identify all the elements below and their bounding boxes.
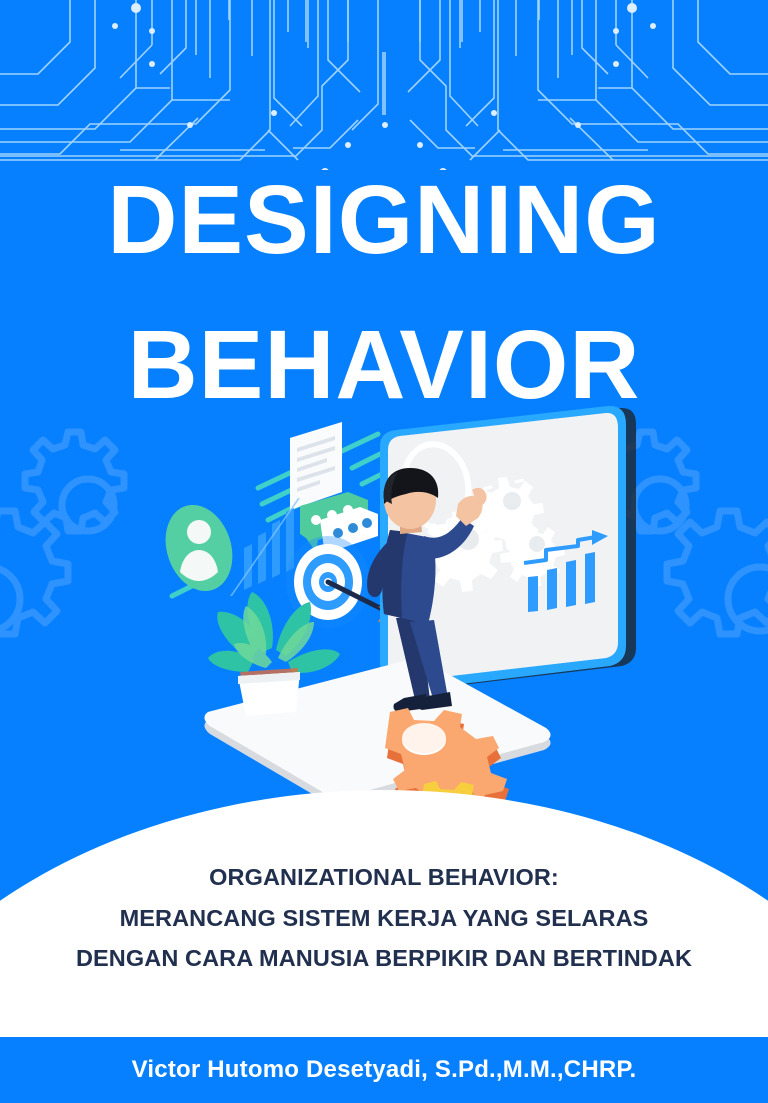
author-bar: Victor Hutomo Desetyadi, S.Pd.,M.M.,CHRP…	[0, 1037, 768, 1103]
author-name: Victor Hutomo Desetyadi, S.Pd.,M.M.,CHRP…	[132, 1056, 637, 1084]
circuit-pattern-decor	[0, 0, 768, 170]
title-line-1: DESIGNING	[0, 172, 768, 267]
user-avatar-icon	[155, 496, 243, 599]
cover-title: DESIGNING BEHAVIOR	[0, 172, 768, 412]
subtitle-line-2: MERANCANG SISTEM KERJA YANG SELARAS	[0, 907, 768, 931]
subtitle-line-3: DENGAN CARA MANUSIA BERPIKIR DAN BERTIND…	[0, 947, 768, 971]
book-cover: DESIGNING BEHAVIOR	[0, 0, 768, 1103]
title-line-2: BEHAVIOR	[0, 317, 768, 412]
cover-subtitle: ORGANIZATIONAL BEHAVIOR: MERANCANG SISTE…	[0, 866, 768, 988]
cover-illustration	[0, 400, 768, 850]
subtitle-line-1: ORGANIZATIONAL BEHAVIOR:	[0, 866, 768, 890]
